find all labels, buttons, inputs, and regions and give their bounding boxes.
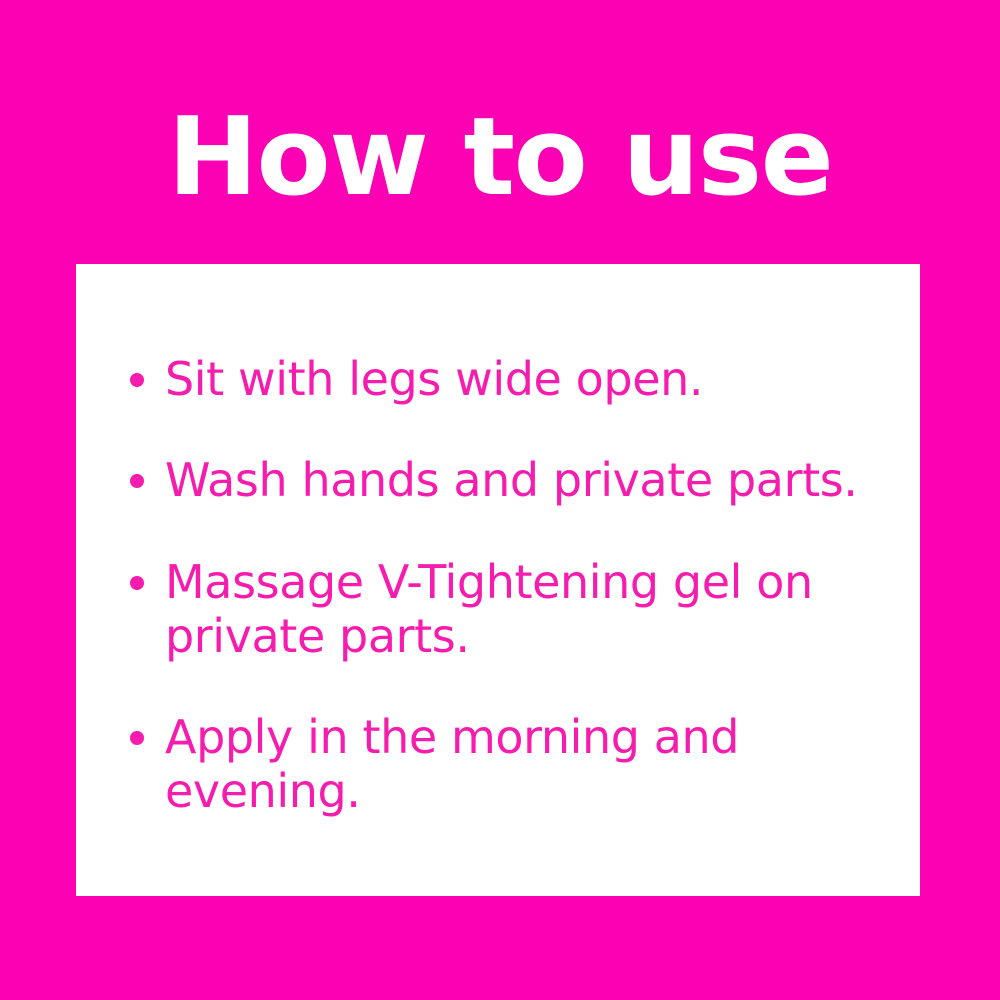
- bullet-dot-icon: [130, 474, 144, 488]
- instruction-step-list: Sit with legs wide open. Wash hands and …: [126, 352, 926, 819]
- list-item: Sit with legs wide open.: [126, 352, 926, 406]
- page-title: How to use: [0, 104, 1000, 212]
- instruction-step-text: Massage V-Tightening gel on private part…: [165, 555, 926, 664]
- bullet-dot-icon: [130, 576, 144, 590]
- instruction-step-text: Wash hands and private parts.: [165, 453, 926, 507]
- instruction-step-text: Sit with legs wide open.: [165, 352, 926, 406]
- poster-canvas: How to use Sit with legs wide open. Wash…: [0, 0, 1000, 1000]
- instruction-step-text: Apply in the morning and evening.: [165, 710, 926, 819]
- list-item: Massage V-Tightening gel on private part…: [126, 555, 926, 664]
- bullet-dot-icon: [130, 373, 144, 387]
- list-item: Apply in the morning and evening.: [126, 710, 926, 819]
- list-item: Wash hands and private parts.: [126, 453, 926, 507]
- bullet-dot-icon: [130, 731, 144, 745]
- instructions-card: Sit with legs wide open. Wash hands and …: [76, 264, 920, 896]
